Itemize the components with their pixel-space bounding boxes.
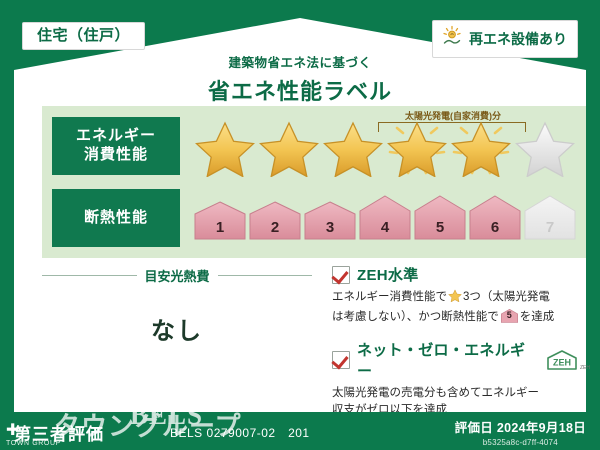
desc-text-1: エネルギー消費性能で [332,291,447,303]
house-level-number: 4 [359,219,411,236]
star-icon [258,119,320,177]
star-icon-inline [448,289,462,309]
desc-text-1: 太陽光発電の売電分も含めてエネルギー [332,387,539,399]
renewable-equipment-label: 再エネ設備あり [469,32,567,46]
evaluation-date: 評価日 2024年9月18日 [455,417,586,436]
energy-performance-label-box: エネルギー 消費性能 [52,117,180,175]
town-group-logo: ✚ TOWN GROUP [6,423,84,447]
house-level-number: 3 [304,219,356,236]
divider-right [218,275,313,276]
house-icon-level-7: 7 [524,195,576,241]
house-icon-level-2: 2 [249,201,301,241]
cross-mark-icon: ✚ [6,423,84,439]
house-icon-level-6: 6 [469,195,521,241]
house-level-number: 6 [469,219,521,236]
utility-cost-block: 目安光熱費 なし [42,266,312,346]
title-subtitle: 建築物省エネ法に基づく [14,52,586,71]
building-type-label: 住宅（住戸） [37,27,130,44]
utility-cost-title: 目安光熱費 [145,266,210,285]
building-type-badge: 住宅（住戸） [22,22,145,50]
insulation-label: 断熱性能 [84,209,148,228]
star-icon [194,119,256,177]
insulation-level-scale: 1 2 3 4 [194,195,576,241]
zeh-logo-text: ZEH [553,357,571,367]
utility-cost-heading: 目安光熱費 [42,266,312,285]
house-level-number: 7 [524,219,576,236]
star-icon-empty [514,119,576,177]
evaluation-hash: b5325a8c-d7ff-4074 [455,438,586,447]
house-icon-level-1: 1 [194,201,246,241]
checkbox-checked-icon[interactable] [332,351,350,369]
star-icon [322,119,384,177]
bels-id-label: BELS 0279007-02 201 [170,424,310,441]
check-title: ネット・ゼロ・エネルギー [357,339,534,381]
brand-name: TOWN GROUP [6,440,84,447]
checkbox-checked-icon[interactable] [332,266,350,284]
zeh-logo-icon: ZEH ZEH [545,349,590,371]
house-icon-level-4: 4 [359,195,411,241]
energy-label-line1: エネルギー [76,127,156,146]
insulation-performance-label-box: 断熱性能 [52,189,180,247]
desc-text-4: を達成 [520,311,555,323]
house-level-number: 5 [414,219,466,236]
star-icon-solar [386,119,448,177]
check-item-net-zero-energy: ネット・ゼロ・エネルギー ZEH ZEH 太陽光発電の売電分も含めてエネルギー収… [332,339,590,421]
house-level-number: 2 [249,219,301,236]
check-title: ZEH水準 [357,264,419,285]
check-header: ネット・ゼロ・エネルギー ZEH ZEH [332,339,590,381]
energy-performance-label: 住宅（住戸） 再エネ設備あり [0,0,600,450]
check-header: ZEH水準 [332,264,590,285]
label-title: 建築物省エネ法に基づく 省エネ性能ラベル [14,52,586,106]
check-item-zeh-standard: ZEH水準 エネルギー消費性能で3つ（太陽光発電は考慮しない）、かつ断熱性能で5… [332,264,590,327]
house-icon-inline: 5 [501,309,518,323]
title-main: 省エネ性能ラベル [14,74,586,106]
desc-text-2: 3つ（太陽光発電 [463,291,550,303]
energy-label-line2: 消費性能 [84,146,148,165]
insulation-levels-area: 1 2 3 4 [180,195,586,241]
energy-stars-area: 太陽光発電(自家消費)分 [180,115,586,177]
check-description: エネルギー消費性能で3つ（太陽光発電は考慮しない）、かつ断熱性能で5を達成 [332,289,590,327]
solar-sun-icon [441,25,463,52]
energy-performance-row: エネルギー 消費性能 太陽光発電(自家消費)分 [42,115,586,177]
insulation-performance-row: 断熱性能 1 2 3 [42,187,586,249]
performance-panel: エネルギー 消費性能 太陽光発電(自家消費)分 [42,106,586,258]
label-card: 住宅（住戸） 再エネ設備あり [14,14,586,412]
divider-left [42,275,137,276]
star-icon-solar [450,119,512,177]
desc-text-3: は考慮しない）、かつ断熱性能で [332,311,499,323]
house-icon-level-5: 5 [414,195,466,241]
house-icon-level-3: 3 [304,201,356,241]
evaluation-date-block: 評価日 2024年9月18日 b5325a8c-d7ff-4074 [455,417,586,447]
zeh-logo-subtext: ZEH [580,365,590,371]
inline-house-level: 5 [501,309,518,323]
house-level-number: 1 [194,219,246,236]
footer-bar: 第三者評価 BELS 0279007-02 201 評価日 2024年9月18日… [0,412,600,450]
utility-cost-value: なし [42,311,312,346]
certification-checks: ZEH水準 エネルギー消費性能で3つ（太陽光発電は考慮しない）、かつ断熱性能で5… [332,264,590,432]
